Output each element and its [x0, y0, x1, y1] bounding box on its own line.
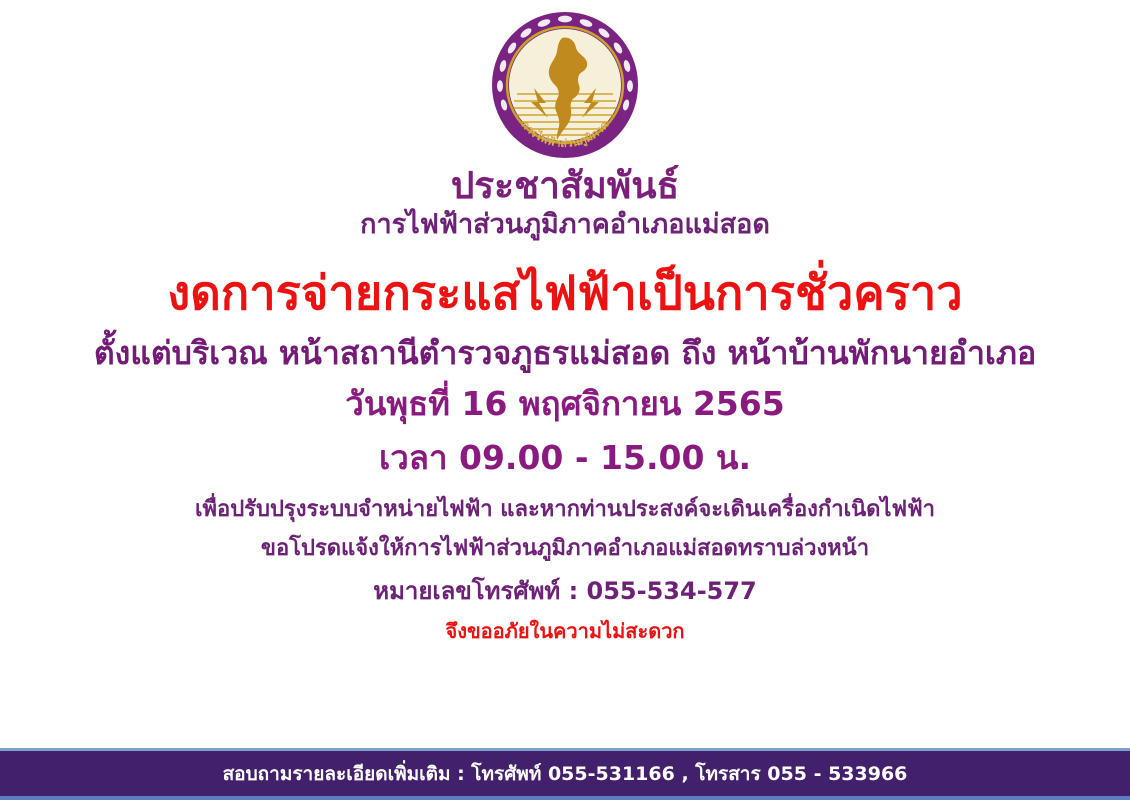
pea-logo: การไฟฟ้าส่วนภูมิภาค	[490, 10, 640, 160]
affected-area-text: ตั้งแต่บริเวณ หน้าสถานีตำรวจภูธรแม่สอด ถ…	[94, 336, 1036, 371]
reason-text-line-1: เพื่อปรับปรุงระบบจำหน่ายไฟฟ้า และหากท่าน…	[195, 498, 935, 522]
pea-logo-icon: การไฟฟ้าส่วนภูมิภาค	[490, 10, 640, 160]
footer-contact-text: สอบถามรายละเอียดเพิ่มเติม : โทรศัพท์ 055…	[223, 759, 908, 789]
contact-phone-number: หมายเลขโทรศัพท์ : 055-534-577	[373, 579, 757, 605]
apology-text: จึงขออภัยในความไม่สะดวก	[445, 621, 684, 643]
outage-date: วันพุธที่ 16 พฤศจิกายน 2565	[345, 386, 784, 422]
announcement-heading: ประชาสัมพันธ์	[451, 166, 679, 206]
outage-headline: งดการจ่ายกระแสไฟฟ้าเป็นการชั่วคราว	[167, 269, 962, 320]
announcement-poster: การไฟฟ้าส่วนภูมิภาค ประชาสัมพันธ์ การไฟฟ…	[0, 0, 1130, 800]
organization-name: การไฟฟ้าส่วนภูมิภาคอำเภอแม่สอด	[360, 210, 770, 239]
reason-text-line-2: ขอโปรดแจ้งให้การไฟฟ้าส่วนภูมิภาคอำเภอแม่…	[261, 537, 869, 561]
footer-contact-bar: สอบถามรายละเอียดเพิ่มเติม : โทรศัพท์ 055…	[0, 748, 1130, 800]
outage-time: เวลา 09.00 - 15.00 น.	[379, 440, 751, 476]
